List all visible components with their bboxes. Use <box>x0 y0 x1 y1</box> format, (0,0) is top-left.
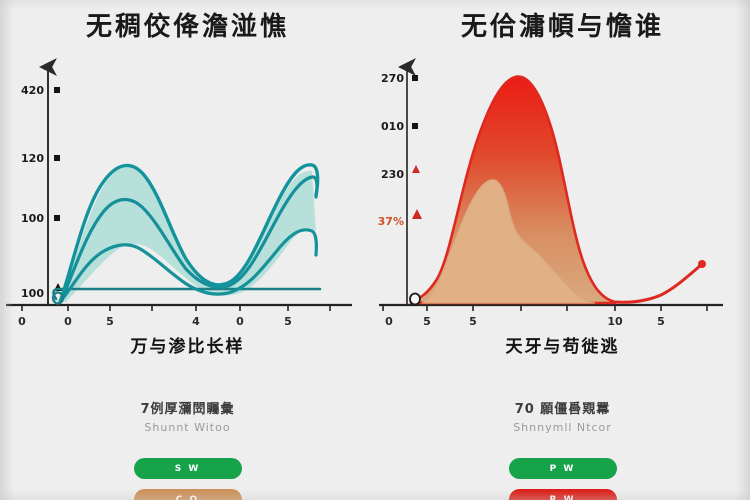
svg-text:0: 0 <box>385 315 393 328</box>
caption-main-left: 7例厚瀰閚矚彙 <box>0 398 375 417</box>
screenshot-root: 无稠佼佭澹湴憔 420 1 <box>0 0 750 500</box>
button-stack-right: P W R W <box>375 458 750 500</box>
caption-block-left: 7例厚瀰閚矚彙 Shunnt Witoo <box>0 398 375 434</box>
left-primary-button[interactable]: S W <box>134 458 242 479</box>
svg-text:5: 5 <box>469 315 477 328</box>
axis-caption-left: 万与渗比长样 <box>0 332 375 357</box>
x-tick-labels-left: 0 0 5 4 0 5 <box>18 315 292 328</box>
right-secondary-button[interactable]: R W <box>509 489 617 500</box>
caption-sub-left: Shunnt Witoo <box>0 421 375 434</box>
y-tick-label-r2: 230 <box>381 168 404 181</box>
svg-text:5: 5 <box>106 315 114 328</box>
svg-text:5: 5 <box>284 315 292 328</box>
series-tail-right <box>615 265 701 302</box>
caption-sub-right: Shnnymll Ntcor <box>375 421 750 434</box>
svg-text:10: 10 <box>607 315 623 328</box>
panel-title-right: 无佮滽幁与憺谁 <box>375 6 750 43</box>
y-tick-label-2: 100 <box>21 212 44 225</box>
svg-text:5: 5 <box>657 315 665 328</box>
right-primary-button[interactable]: P W <box>509 458 617 479</box>
y-ticks-left: 420 120 100 100 <box>21 84 62 300</box>
plot-area-left: 420 120 100 100 0 <box>0 55 375 330</box>
y-tick-label-r3: 37% <box>378 215 404 228</box>
series-baseline-left <box>54 289 320 299</box>
end-point-marker-right <box>698 260 706 268</box>
y-tick-label-0: 420 <box>21 84 44 97</box>
left-secondary-button[interactable]: C O <box>134 489 242 500</box>
svg-text:0: 0 <box>236 315 244 328</box>
x-tick-labels-right: 0 5 5 10 5 <box>385 315 665 328</box>
svg-text:4: 4 <box>192 315 200 328</box>
plot-area-right: 270 010 230 37% 0 5 <box>375 55 750 330</box>
axis-caption-right: 天牙与苟徙逃 <box>375 332 750 357</box>
svg-text:0: 0 <box>18 315 26 328</box>
caption-block-right: 70 願僵噕覭羃 Shnnymll Ntcor <box>375 398 750 434</box>
y-ticks-right: 270 010 230 37% <box>378 72 422 228</box>
y-tick-label-r1: 010 <box>381 120 404 133</box>
svg-text:5: 5 <box>423 315 431 328</box>
panel-title-left: 无稠佼佭澹湴憔 <box>0 6 375 43</box>
chart-panel-right: 无佮滽幁与憺谁 <box>375 0 750 500</box>
origin-marker-right <box>410 294 420 305</box>
confidence-band-left <box>60 166 316 302</box>
y-tick-label-3: 100 <box>21 287 44 300</box>
chart-svg-right: 270 010 230 37% 0 5 <box>375 55 750 330</box>
chart-svg-left: 420 120 100 100 0 <box>0 55 375 330</box>
caption-main-right: 70 願僵噕覭羃 <box>375 398 750 417</box>
y-tick-label-r0: 270 <box>381 72 404 85</box>
y-tick-label-1: 120 <box>21 152 44 165</box>
chart-panel-left: 无稠佼佭澹湴憔 420 1 <box>0 0 375 500</box>
button-stack-left: S W C O <box>0 458 375 500</box>
svg-text:0: 0 <box>64 315 72 328</box>
